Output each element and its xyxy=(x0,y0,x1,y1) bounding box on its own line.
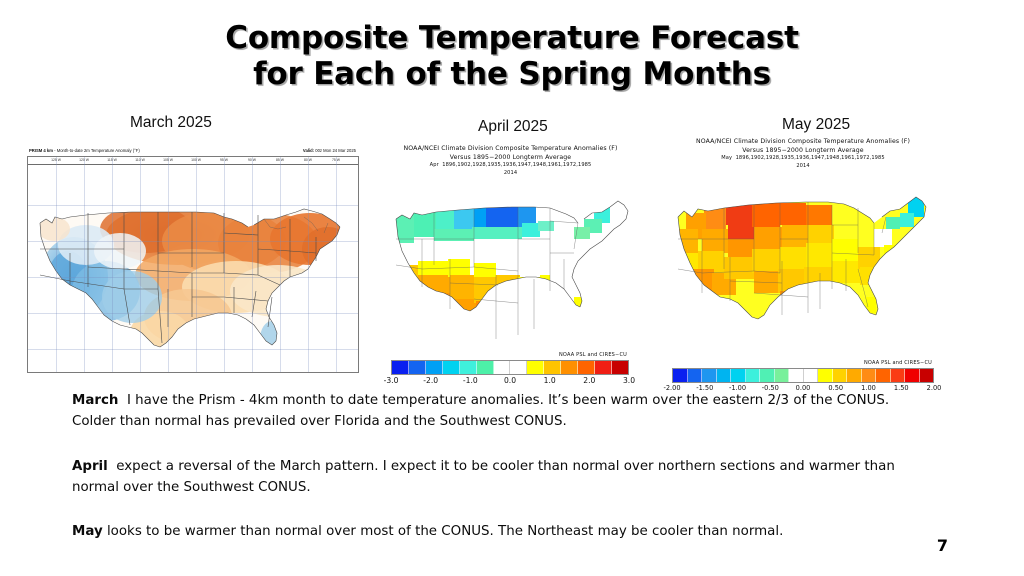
lon-label: 75 W xyxy=(332,158,340,162)
may-paragraph-label: May xyxy=(72,524,103,539)
prism-header-left-bold: PRISM 4 km xyxy=(29,148,53,153)
colorbar-swatch xyxy=(595,361,612,374)
colorbar-tick-label: -3.0 xyxy=(384,376,399,385)
april-header-line1: NOAA/NCEI Climate Division Composite Tem… xyxy=(388,145,633,154)
colorbar-swatch xyxy=(818,369,833,382)
prism-map-frame: 125 W 120 W 115 W 110 W 105 W 100 W 95 W… xyxy=(27,156,359,373)
may-map-header: NOAA/NCEI Climate Division Composite Tem… xyxy=(668,138,938,170)
may-colorbar-cells xyxy=(672,368,934,383)
april-map-header: NOAA/NCEI Climate Division Composite Tem… xyxy=(388,145,633,177)
april-colorbar-credit: NOAA PSL and CIRES−CU xyxy=(391,352,629,358)
colorbar-swatch xyxy=(409,361,426,374)
may-composite-map: NOAA/NCEI Climate Division Composite Tem… xyxy=(668,138,938,383)
april-header-line4: 2014 xyxy=(388,170,633,178)
colorbar-swatch xyxy=(862,369,877,382)
may-anomaly-choropleth xyxy=(668,173,936,369)
title-line-1: Composite Temperature Forecast xyxy=(0,20,1024,56)
april-anomaly-choropleth xyxy=(388,179,633,364)
colorbar-swatch xyxy=(527,361,544,374)
colorbar-swatch xyxy=(392,361,409,374)
colorbar-swatch xyxy=(891,369,906,382)
colorbar-tick-label: 2.0 xyxy=(583,376,595,385)
colorbar-swatch xyxy=(847,369,862,382)
april-paragraph: April expect a reversal of the March pat… xyxy=(72,456,932,498)
colorbar-swatch xyxy=(494,361,511,374)
colorbar-swatch xyxy=(688,369,703,382)
colorbar-swatch xyxy=(775,369,790,382)
colorbar-tick-label: 3.0 xyxy=(623,376,635,385)
colorbar-swatch xyxy=(746,369,761,382)
colorbar-swatch xyxy=(731,369,746,382)
colorbar-swatch xyxy=(673,369,688,382)
colorbar-swatch xyxy=(804,369,819,382)
may-header-line1: NOAA/NCEI Climate Division Composite Tem… xyxy=(668,138,938,147)
april-analog-years: 1896,1902,1928,1935,1936,1947,1948,1961,… xyxy=(442,162,591,168)
colorbar-swatch xyxy=(477,361,494,374)
march-map-caption: March 2025 xyxy=(130,114,212,132)
april-analog-month: Apr xyxy=(430,162,439,168)
april-paragraph-label: April xyxy=(72,459,108,474)
may-analog-month: May xyxy=(721,155,732,161)
slide-number: 7 xyxy=(937,536,948,555)
april-colorbar-cells xyxy=(391,360,629,375)
april-composite-map: NOAA/NCEI Climate Division Composite Tem… xyxy=(388,145,633,380)
page-title: Composite Temperature Forecast for Each … xyxy=(0,20,1024,92)
prism-header-left-rest: - Month-to-date 2m Temperature Anomaly (… xyxy=(53,148,140,153)
april-header-line3: Apr 1896,1902,1928,1935,1936,1947,1948,1… xyxy=(388,162,633,170)
colorbar-swatch xyxy=(510,361,527,374)
march-prism-map: PRISM 4 km - Month-to-date 2m Temperatur… xyxy=(27,146,357,371)
prism-valid-bold: Valid: xyxy=(303,148,314,153)
colorbar-swatch xyxy=(460,361,477,374)
may-map-caption: May 2025 xyxy=(782,116,850,134)
lon-label: 125 W xyxy=(51,158,61,162)
colorbar-tick-label: -2.0 xyxy=(423,376,438,385)
colorbar-swatch xyxy=(905,369,920,382)
march-paragraph-label: March xyxy=(72,393,118,408)
lon-label: 80 W xyxy=(304,158,312,162)
prism-valid-rest: 00z Mon 24 Mar 2025 xyxy=(314,148,356,153)
colorbar-swatch xyxy=(789,369,804,382)
colorbar-tick-label: 0.0 xyxy=(504,376,516,385)
colorbar-swatch xyxy=(578,361,595,374)
lon-label: 95 W xyxy=(220,158,228,162)
colorbar-tick-label: -1.0 xyxy=(463,376,478,385)
colorbar-swatch xyxy=(426,361,443,374)
colorbar-swatch xyxy=(561,361,578,374)
lon-label: 100 W xyxy=(191,158,201,162)
may-paragraph-text: looks to be warmer than normal over most… xyxy=(107,524,783,539)
may-paragraph: May looks to be warmer than normal over … xyxy=(72,521,932,542)
prism-header-right: Valid: 00z Mon 24 Mar 2025 xyxy=(303,146,356,156)
lon-label: 105 W xyxy=(163,158,173,162)
march-paragraph-text: I have the Prism - 4km month to date tem… xyxy=(72,393,889,429)
april-map-caption: April 2025 xyxy=(478,118,548,136)
lon-label: 115 W xyxy=(107,158,117,162)
prism-header-left: PRISM 4 km - Month-to-date 2m Temperatur… xyxy=(29,146,140,156)
colorbar-swatch xyxy=(443,361,460,374)
colorbar-swatch xyxy=(920,369,934,382)
lon-label: 85 W xyxy=(276,158,284,162)
colorbar-swatch xyxy=(544,361,561,374)
april-colorbar-ticks: -3.0-2.0-1.00.01.02.03.0 xyxy=(391,376,629,388)
lon-label: 120 W xyxy=(79,158,89,162)
may-colorbar-credit: NOAA PSL and CIRES−CU xyxy=(672,360,934,366)
colorbar-swatch xyxy=(702,369,717,382)
colorbar-swatch xyxy=(717,369,732,382)
colorbar-swatch xyxy=(612,361,628,374)
lon-label: 90 W xyxy=(248,158,256,162)
colorbar-swatch xyxy=(833,369,848,382)
may-header-line3: May 1896,1902,1928,1935,1936,1947,1948,1… xyxy=(668,155,938,163)
colorbar-tick-label: 1.0 xyxy=(544,376,556,385)
april-colorbar: NOAA PSL and CIRES−CU -3.0-2.0-1.00.01.0… xyxy=(391,352,629,388)
colorbar-swatch xyxy=(760,369,775,382)
colorbar-swatch xyxy=(876,369,891,382)
april-paragraph-text: expect a reversal of the March pattern. … xyxy=(72,459,895,495)
may-header-line4: 2014 xyxy=(668,163,938,171)
may-analog-years: 1896,1902,1928,1935,1936,1947,1948,1961,… xyxy=(736,155,885,161)
april-header-line2: Versus 1895−2000 Longterm Average xyxy=(388,154,633,163)
prism-header: PRISM 4 km - Month-to-date 2m Temperatur… xyxy=(27,146,357,156)
title-line-2: for Each of the Spring Months xyxy=(0,56,1024,92)
march-paragraph: March I have the Prism - 4km month to da… xyxy=(72,390,932,432)
may-header-line2: Versus 1895−2000 Longterm Average xyxy=(668,147,938,156)
lon-label: 110 W xyxy=(135,158,145,162)
slide-root: Composite Temperature Forecast for Each … xyxy=(0,0,1024,576)
